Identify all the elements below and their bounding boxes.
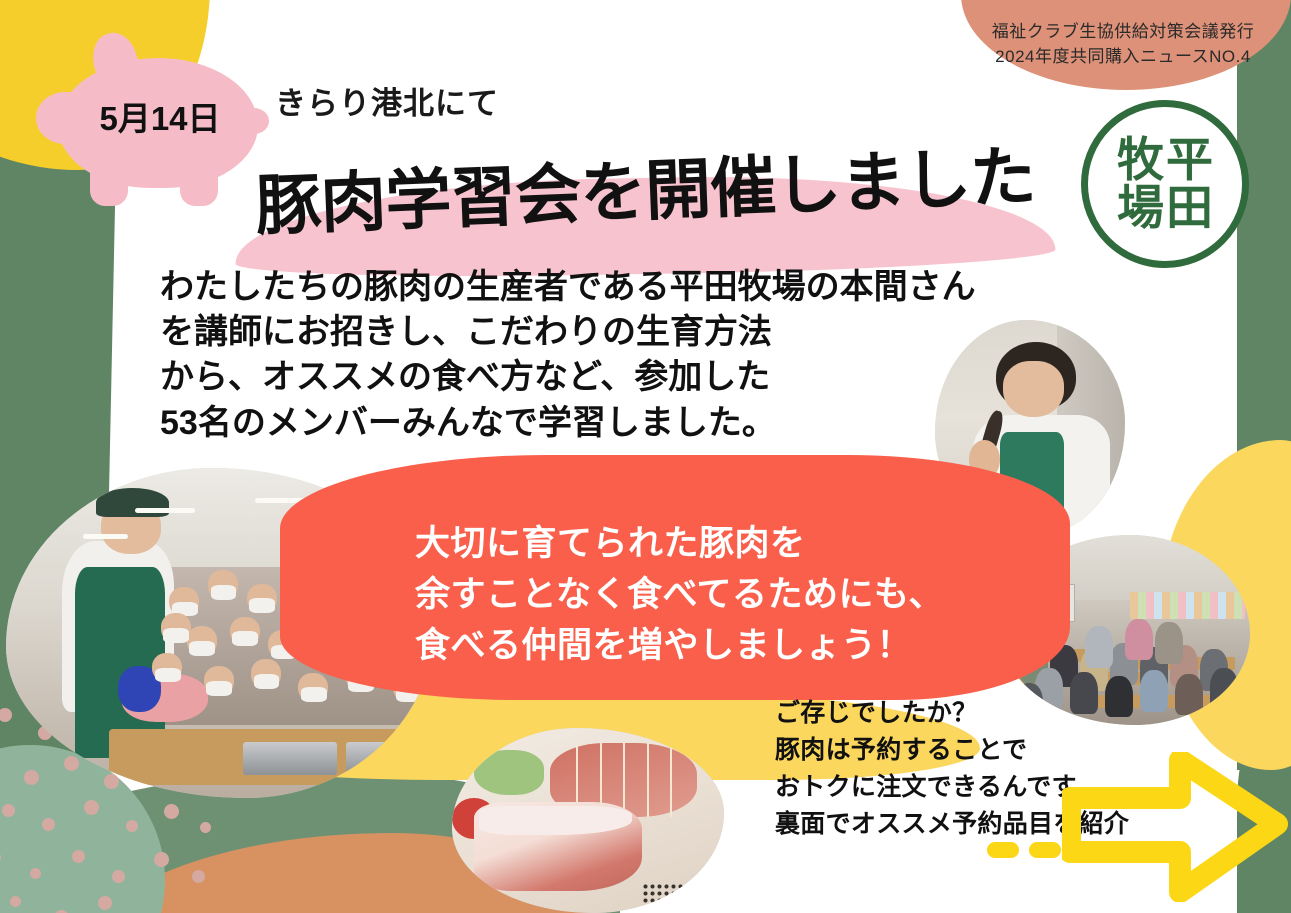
face-mask	[232, 631, 258, 646]
decorative-dot	[98, 896, 112, 910]
face-mask	[206, 681, 232, 696]
stamp-char-jou: 場	[1117, 184, 1164, 232]
face-mask	[254, 674, 280, 689]
audience-member	[1085, 626, 1113, 668]
ceiling-light	[135, 508, 195, 513]
next-page-arrow	[1062, 752, 1291, 902]
decorative-dot	[42, 818, 55, 831]
photo-pork-cuts	[452, 728, 724, 913]
publisher-line-2: 2024年度共同購入ニュースNO.4	[973, 45, 1273, 70]
decorative-dot	[154, 852, 169, 867]
face-mask	[301, 687, 327, 702]
stamp-char-ta: 田	[1166, 184, 1213, 232]
stamp-column-right: 平 田	[1166, 136, 1213, 233]
face-mask	[211, 585, 237, 600]
face-mask	[163, 628, 189, 643]
flyer-canvas: 福祉クラブ生協供給対策会議発行 2024年度共同購入ニュースNO.4 5月14日…	[0, 0, 1291, 913]
face-mask	[155, 668, 181, 683]
decorative-dot	[126, 820, 138, 832]
headline-block: 豚肉学習会を開催しました	[230, 120, 1060, 260]
pig-front-leg-icon	[90, 168, 128, 206]
face-mask	[249, 598, 275, 613]
event-date: 5月14日	[70, 92, 250, 140]
face-mask	[189, 641, 215, 656]
publisher-line-1: 福祉クラブ生協供給対策会議発行	[973, 20, 1273, 45]
audience-member	[1155, 622, 1183, 664]
hirata-farm-stamp: 平 田 牧 場	[1081, 100, 1249, 268]
decorative-dot	[112, 870, 125, 883]
stamp-column-left: 牧 場	[1117, 136, 1164, 233]
decorative-dot	[72, 850, 85, 863]
banner-message: 大切に育てられた豚肉を 余すことなく食べてるためにも、 食べる仲間を増やしましょ…	[415, 518, 1035, 671]
decorative-dot	[200, 822, 211, 833]
publisher-info: 福祉クラブ生協供給対策会議発行 2024年度共同購入ニュースNO.4	[973, 20, 1273, 69]
arrow-right-icon	[1062, 752, 1291, 902]
pig-rear-leg-icon	[180, 168, 218, 206]
arrow-dash-2	[1029, 842, 1061, 858]
arrow-dash-1	[987, 842, 1019, 858]
decorative-dot	[10, 896, 21, 907]
audience-member	[1125, 619, 1153, 661]
stamp-char-boku: 牧	[1117, 136, 1164, 184]
event-location: きらり港北にて	[275, 78, 499, 123]
decorative-dot	[2, 804, 15, 817]
ceiling-light	[83, 534, 128, 539]
decorative-dot	[164, 804, 179, 819]
decorative-dot	[30, 868, 41, 879]
decorative-dot	[192, 870, 205, 883]
stamp-char-hira: 平	[1166, 136, 1213, 184]
decorative-dot	[0, 852, 1, 863]
decorative-dot	[84, 800, 99, 815]
